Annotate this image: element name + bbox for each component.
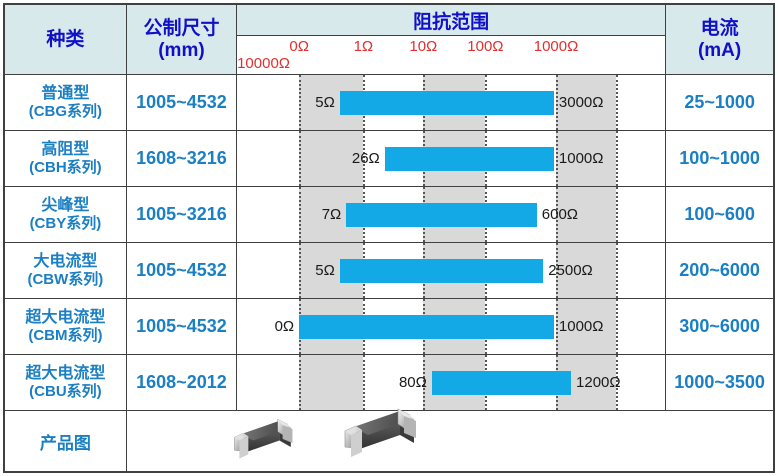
row-category-series: (CBW系列) [5,271,126,289]
row-category-name: 尖峰型 [5,196,126,215]
impedance-plot: 0Ω1000Ω [237,299,665,354]
impedance-bar [340,91,554,115]
row-category: 尖峰型(CBY系列) [4,187,126,243]
impedance-spec-table: 种类 公制尺寸 (mm) 阻抗范围 电流 (mA) 0Ω1Ω10Ω100Ω100… [0,3,778,476]
impedance-plot: 80Ω1200Ω [237,355,665,410]
impedance-max-label: 1000Ω [554,149,604,169]
product-image-cell [126,411,774,473]
impedance-max-label: 3000Ω [554,93,604,113]
scale-tick-5: 10000Ω [237,55,290,72]
header-row-top: 种类 公制尺寸 (mm) 阻抗范围 电流 (mA) [4,4,774,36]
row-category-name: 超大电流型 [5,364,126,383]
row-category-name: 超大电流型 [5,308,126,327]
impedance-max-label: 1000Ω [554,317,604,337]
row-current: 100~1000 [666,131,774,187]
gridline-5 [616,131,618,186]
gridline-1 [363,355,365,410]
gridline-0 [299,355,301,410]
gridline-5 [616,243,618,298]
row-size: 1005~4532 [126,75,236,131]
grid-band-0 [299,355,363,410]
row-category: 普通型(CBG系列) [4,75,126,131]
row-size: 1608~3216 [126,131,236,187]
row-category-series: (CBH系列) [5,159,126,177]
table-row: 尖峰型(CBY系列)1005~32167Ω600Ω100~600 [4,187,774,243]
impedance-bar [340,259,543,283]
row-current: 200~6000 [666,243,774,299]
spec-table: 种类 公制尺寸 (mm) 阻抗范围 电流 (mA) 0Ω1Ω10Ω100Ω100… [3,3,775,473]
product-row-label: 产品图 [4,411,126,473]
row-size: 1005~4532 [126,243,236,299]
gridline-0 [299,243,301,298]
table-row: 大电流型(CBW系列)1005~45325Ω2500Ω200~6000 [4,243,774,299]
row-impedance-chart: 5Ω2500Ω [237,243,666,299]
impedance-scale-cell: 0Ω1Ω10Ω100Ω1000Ω10000Ω [237,36,666,75]
impedance-min-label: 80Ω [399,373,432,393]
row-current: 300~6000 [666,299,774,355]
impedance-bar [299,315,554,339]
row-category: 高阻型(CBH系列) [4,131,126,187]
impedance-plot: 7Ω600Ω [237,187,665,242]
impedance-bar [385,147,554,171]
table-row: 超大电流型(CBM系列)1005~45320Ω1000Ω300~6000 [4,299,774,355]
row-current: 100~600 [666,187,774,243]
gridline-0 [299,75,301,130]
row-current: 25~1000 [666,75,774,131]
impedance-min-label: 5Ω [315,93,340,113]
row-current: 1000~3500 [666,355,774,411]
header-impedance: 阻抗范围 [237,4,666,36]
scale-tick-4: 1000Ω [534,38,579,55]
table-row: 普通型(CBG系列)1005~45325Ω3000Ω25~1000 [4,75,774,131]
impedance-min-label: 7Ω [322,205,347,225]
gridline-0 [299,131,301,186]
impedance-plot: 5Ω2500Ω [237,243,665,298]
impedance-bar [346,203,537,227]
impedance-scale: 0Ω1Ω10Ω100Ω1000Ω10000Ω [237,36,665,74]
row-category-series: (CBG系列) [5,103,126,121]
header-current: 电流 (mA) [666,4,774,75]
impedance-plot: 5Ω3000Ω [237,75,665,130]
row-category-series: (CBM系列) [5,327,126,345]
impedance-min-label: 5Ω [315,261,340,281]
row-impedance-chart: 7Ω600Ω [237,187,666,243]
scale-tick-1: 1Ω [354,38,374,55]
row-impedance-chart: 5Ω3000Ω [237,75,666,131]
impedance-min-label: 26Ω [352,149,385,169]
row-size: 1608~2012 [126,355,236,411]
header-current-line2: (mA) [666,40,773,62]
row-category-name: 普通型 [5,84,126,103]
row-impedance-chart: 0Ω1000Ω [237,299,666,355]
row-category-series: (CBY系列) [5,215,126,233]
smd-ferrite-bead-small-icon [230,416,301,465]
gridline-5 [616,75,618,130]
row-size: 1005~4532 [126,299,236,355]
row-size: 1005~3216 [126,187,236,243]
impedance-plot: 26Ω1000Ω [237,131,665,186]
row-category: 超大电流型(CBU系列) [4,355,126,411]
impedance-max-label: 1200Ω [571,373,621,393]
row-impedance-chart: 80Ω1200Ω [237,355,666,411]
row-category-series: (CBU系列) [5,383,126,401]
row-category: 超大电流型(CBM系列) [4,299,126,355]
impedance-max-label: 600Ω [537,205,578,225]
header-category: 种类 [4,4,126,75]
table-row: 高阻型(CBH系列)1608~321626Ω1000Ω100~1000 [4,131,774,187]
header-current-line1: 电流 [666,18,773,40]
product-image-row: 产品图 [4,411,774,473]
scale-tick-0: 0Ω [289,38,309,55]
table-row: 超大电流型(CBU系列)1608~201280Ω1200Ω1000~3500 [4,355,774,411]
header-size: 公制尺寸 (mm) [126,4,236,75]
row-category: 大电流型(CBW系列) [4,243,126,299]
impedance-max-label: 2500Ω [543,261,593,281]
row-category-name: 大电流型 [5,252,126,271]
gridline-5 [616,187,618,242]
row-category-name: 高阻型 [5,140,126,159]
header-size-line2: (mm) [127,40,236,62]
scale-tick-3: 100Ω [467,38,503,55]
row-impedance-chart: 26Ω1000Ω [237,131,666,187]
product-image-area [127,411,773,471]
smd-ferrite-bead-large-icon [340,405,426,465]
header-size-line1: 公制尺寸 [127,18,236,40]
gridline-5 [616,299,618,354]
impedance-min-label: 0Ω [275,317,300,337]
impedance-bar [432,371,571,395]
gridline-0 [299,187,301,242]
scale-tick-2: 10Ω [409,38,437,55]
